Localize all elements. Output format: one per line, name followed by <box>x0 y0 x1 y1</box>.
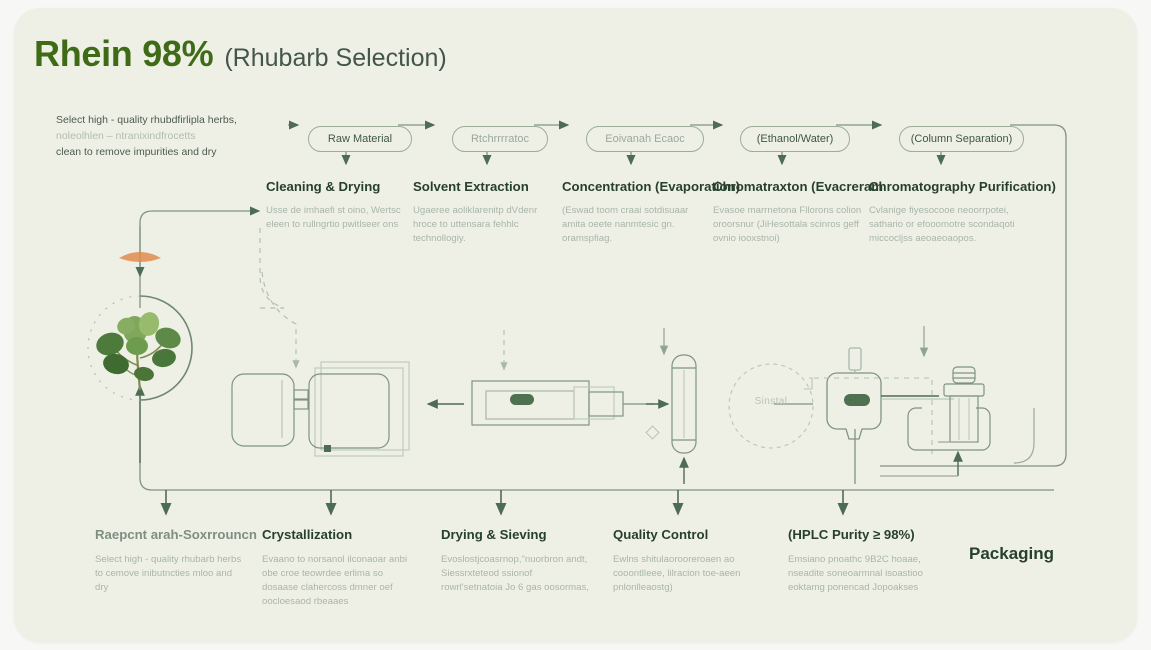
pill-raw-material[interactable]: Raw Material <box>308 126 412 152</box>
stage-title: Chromatography Purification) <box>869 179 1029 195</box>
bottom-stage-crystallization: Crystallization Evaano to norsanol ilcon… <box>262 527 414 609</box>
stage-chromatography-evap: Chromatraxton (Evacreram Evasoe marrneto… <box>713 179 865 246</box>
pill-solvent-extraction[interactable]: Eoivanah Ecaoc <box>586 126 704 152</box>
bottom-stage-drying-sieving: Drying & Sieving Evoslostjcoasrnop,"nuor… <box>441 527 593 595</box>
equipment-circle-label: Sinstal <box>726 396 816 407</box>
pill-column-separation[interactable]: (Column Separation) <box>899 126 1024 152</box>
stage-body: Ugaeree aoliklarenitp dVdenr hroce to ut… <box>413 204 561 246</box>
stage-body: Ewlns shitulaorooreroaen ao cooontlleee,… <box>613 553 765 595</box>
intro-line-2: noleolhlen – ntranixindfrocetts <box>56 128 271 144</box>
packaging-label: Packaging <box>969 544 1054 564</box>
stage-solvent-extraction: Solvent Extraction Ugaeree aoliklarenitp… <box>413 179 561 246</box>
stage-concentration: Concentration (Evaporation) (Eswad toom … <box>562 179 712 246</box>
stage-body: Select high - quality rhubarb herbs to c… <box>95 553 245 595</box>
intro-line-1: Select high - quality rhubdfirlipla herb… <box>56 112 271 128</box>
stage-title: Quality Control <box>613 527 765 543</box>
stage-body: Evasoe marrnetona Fllorons colion oroors… <box>713 204 865 246</box>
stage-cleaning-drying: Cleaning & Drying Usse de imhaefi st oin… <box>266 179 416 232</box>
screenshot-root: Rhein 98% (Rhubarb Selection) Select hig… <box>0 0 1151 650</box>
intro-paragraph: Select high - quality rhubdfirlipla herb… <box>56 112 271 160</box>
intro-line-3: clean to remove impurities and dry <box>56 144 271 160</box>
stage-title: Cleaning & Drying <box>266 179 416 195</box>
title-subtitle: (Rhubarb Selection) <box>224 46 446 71</box>
stage-body: Cvlanige fiyesocooe neoorrpotei, sathari… <box>869 204 1029 246</box>
title-main: Rhein 98% <box>34 36 213 72</box>
stage-title: Raepcnt arah-Soxrrouncn <box>95 527 245 543</box>
page-title: Rhein 98% (Rhubarb Selection) <box>34 36 447 72</box>
pill-pretreatment[interactable]: Rtchrrrratoc <box>452 126 548 152</box>
stage-body: Usse de imhaefi st oino, Wertsc eleen to… <box>266 204 416 232</box>
stage-body: Evoslostjcoasrnop,"nuorbron andt, Siessr… <box>441 553 593 595</box>
stage-title: Drying & Sieving <box>441 527 593 543</box>
bottom-stage-quality-control: Quality Control Ewlns shitulaorooreroaen… <box>613 527 765 595</box>
infographic-card: Rhein 98% (Rhubarb Selection) Select hig… <box>14 8 1137 642</box>
bottom-stage-hplc-purity: (HPLC Purity ≥ 98%) Emsiano pnoathc 9B2C… <box>788 527 946 595</box>
stage-title: Chromatraxton (Evacreram <box>713 179 865 195</box>
stage-chromatography-purification: Chromatography Purification) Cvlanige fi… <box>869 179 1029 246</box>
pill-ethanol-water[interactable]: (Ethanol/Water) <box>740 126 850 152</box>
stage-body: Emsiano pnoathc 9B2C hoaae, nseadite son… <box>788 553 946 595</box>
stage-body: Evaano to norsanol ilconaoar anbi obe cr… <box>262 553 414 609</box>
bottom-stage-recrystallization: Raepcnt arah-Soxrrouncn Select high - qu… <box>95 527 245 595</box>
stage-title: (HPLC Purity ≥ 98%) <box>788 527 946 543</box>
stage-title: Concentration (Evaporation) <box>562 179 712 195</box>
stage-title: Solvent Extraction <box>413 179 561 195</box>
stage-title: Crystallization <box>262 527 414 543</box>
stage-body: (Eswad toom craai sotdisuaar amita oeete… <box>562 204 712 246</box>
